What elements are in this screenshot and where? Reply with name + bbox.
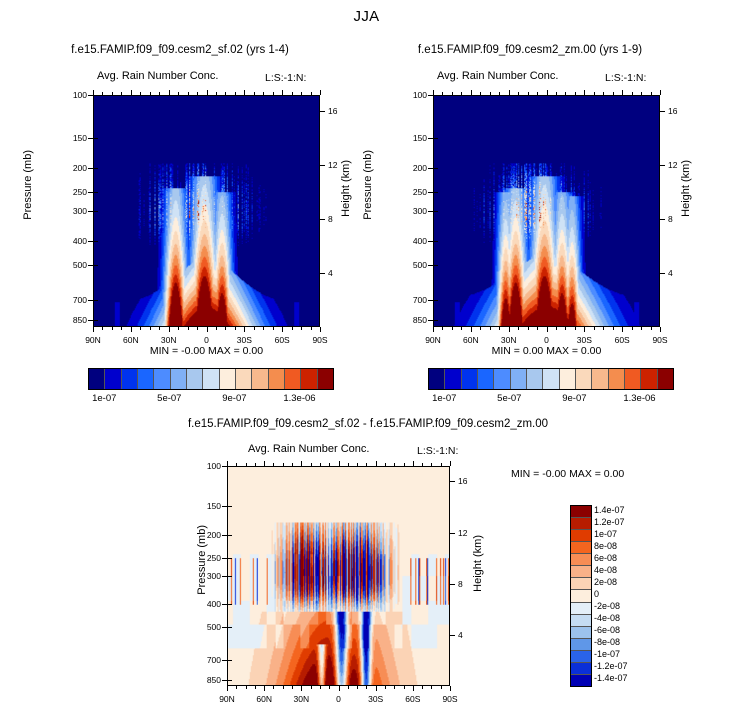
colorbar-segment bbox=[658, 369, 673, 389]
tick-lat-bottom bbox=[282, 327, 283, 332]
diff-colorbar-tick-label: 0 bbox=[594, 589, 656, 599]
tick-lat-minor-top bbox=[121, 92, 122, 95]
lat-tick-label: 60S bbox=[395, 694, 431, 704]
lat-tick-label: 60S bbox=[264, 335, 300, 345]
tick-lat-minor-bottom bbox=[385, 686, 386, 689]
colorbar-segment bbox=[641, 369, 657, 389]
tick-lat-minor-top bbox=[112, 92, 113, 95]
colorbar-segment bbox=[301, 369, 317, 389]
tick-lat-minor-bottom bbox=[178, 327, 179, 330]
colorbar-segment bbox=[527, 369, 543, 389]
tick-pressure bbox=[428, 192, 433, 193]
pressure-tick-label: 150 bbox=[399, 133, 427, 143]
tick-lat-top bbox=[93, 90, 94, 95]
bottom-panel-title: f.e15.FAMIP.f09_f09.cesm2_sf.02 - f.e15.… bbox=[133, 418, 603, 430]
tick-height bbox=[660, 165, 665, 166]
tick-lat-minor-bottom bbox=[311, 686, 312, 689]
tick-lat-bottom bbox=[413, 686, 414, 691]
colorbar-segment bbox=[236, 369, 252, 389]
lat-tick-label: 0 bbox=[321, 694, 357, 704]
left-panel-subtitle: Avg. Rain Number Conc. bbox=[97, 70, 218, 82]
colorbar-tick-label: 1e-07 bbox=[76, 393, 132, 404]
tick-lat-minor-bottom bbox=[102, 327, 103, 330]
tick-lat-minor-top bbox=[452, 92, 453, 95]
height-tick-label: 16 bbox=[668, 106, 690, 116]
tick-pressure-inner bbox=[434, 300, 438, 301]
tick-lat-top bbox=[169, 90, 170, 95]
tick-lat-minor-bottom bbox=[236, 686, 237, 689]
tick-lat-minor-top bbox=[594, 92, 595, 95]
pressure-tick-label: 400 bbox=[59, 236, 87, 246]
tick-lat-minor-bottom bbox=[197, 327, 198, 330]
tick-height bbox=[660, 273, 665, 274]
tick-lat-top bbox=[660, 90, 661, 95]
tick-pressure-inner bbox=[94, 265, 98, 266]
tick-pressure-inner bbox=[434, 192, 438, 193]
tick-pressure bbox=[222, 506, 227, 507]
tick-lat-minor-bottom bbox=[422, 686, 423, 689]
pressure-tick-label: 850 bbox=[399, 315, 427, 325]
tick-lat-minor-top bbox=[216, 92, 217, 95]
tick-lat-bottom bbox=[169, 327, 170, 332]
lat-tick-label: 60N bbox=[453, 335, 489, 345]
tick-lat-minor-bottom bbox=[292, 686, 293, 689]
tick-pressure-inner bbox=[228, 627, 232, 628]
tick-pressure-inner bbox=[228, 466, 232, 467]
tick-lat-minor-bottom bbox=[651, 327, 652, 330]
tick-pressure bbox=[222, 576, 227, 577]
pressure-tick-label: 200 bbox=[193, 530, 221, 540]
lat-tick-label: 30S bbox=[566, 335, 602, 345]
tick-pressure-inner bbox=[228, 506, 232, 507]
tick-pressure bbox=[88, 95, 93, 96]
tick-lat-minor-bottom bbox=[461, 327, 462, 330]
colorbar-segment bbox=[478, 369, 494, 389]
tick-lat-minor-top bbox=[575, 92, 576, 95]
tick-lat-minor-bottom bbox=[528, 327, 529, 330]
tick-lat-top bbox=[264, 461, 265, 466]
tick-lat-minor-top bbox=[246, 463, 247, 466]
colorbar-segment bbox=[625, 369, 641, 389]
tick-lat-minor-bottom bbox=[301, 327, 302, 330]
tick-lat-minor-top bbox=[235, 92, 236, 95]
colorbar-tick-label: 1e-07 bbox=[416, 393, 472, 404]
tick-lat-minor-top bbox=[348, 463, 349, 466]
tick-lat-minor-top bbox=[150, 92, 151, 95]
difference-colorbar[interactable] bbox=[570, 505, 592, 687]
height-tick-label: 8 bbox=[458, 579, 480, 589]
diff-colorbar-tick-label: -2e-08 bbox=[594, 601, 656, 611]
lat-tick-label: 0 bbox=[529, 335, 565, 345]
pressure-tick-label: 500 bbox=[399, 260, 427, 270]
colorbar-segment bbox=[609, 369, 625, 389]
tick-lat-minor-bottom bbox=[404, 686, 405, 689]
lat-tick-label: 90S bbox=[642, 335, 678, 345]
tick-lat-minor-top bbox=[613, 92, 614, 95]
tick-pressure bbox=[428, 300, 433, 301]
tick-lat-bottom bbox=[339, 686, 340, 691]
tick-lat-minor-bottom bbox=[283, 686, 284, 689]
tick-lat-minor-bottom bbox=[431, 686, 432, 689]
tick-pressure-inner bbox=[94, 300, 98, 301]
tick-lat-minor-top bbox=[651, 92, 652, 95]
lat-tick-label: 90N bbox=[209, 694, 245, 704]
pressure-tick-label: 100 bbox=[399, 90, 427, 100]
tick-lat-minor-top bbox=[357, 463, 358, 466]
tick-lat-bottom bbox=[264, 686, 265, 691]
lat-tick-label: 90S bbox=[432, 694, 468, 704]
tick-pressure bbox=[88, 211, 93, 212]
tick-pressure-inner bbox=[94, 320, 98, 321]
tick-lat-minor-top bbox=[292, 92, 293, 95]
tick-height bbox=[450, 533, 455, 534]
diff-colorbar-tick-label: 2e-08 bbox=[594, 577, 656, 587]
left-panel-plot-area[interactable] bbox=[93, 95, 320, 327]
tick-lat-minor-top bbox=[565, 92, 566, 95]
tick-lat-minor-top bbox=[273, 463, 274, 466]
colorbar-tick-label: 9e-07 bbox=[206, 393, 262, 404]
tick-lat-minor-bottom bbox=[480, 327, 481, 330]
tick-lat-top bbox=[433, 90, 434, 95]
tick-pressure-inner bbox=[434, 138, 438, 139]
tick-height bbox=[660, 111, 665, 112]
height-tick-label: 12 bbox=[328, 160, 350, 170]
tick-lat-minor-bottom bbox=[273, 686, 274, 689]
colorbar-tick-label: 5e-07 bbox=[141, 393, 197, 404]
tick-lat-bottom bbox=[244, 327, 245, 332]
tick-pressure bbox=[88, 300, 93, 301]
tick-pressure bbox=[88, 320, 93, 321]
pressure-tick-label: 150 bbox=[193, 501, 221, 511]
diff-colorbar-tick-label: 1.4e-07 bbox=[594, 505, 656, 515]
right-panel-colorbar[interactable] bbox=[428, 368, 674, 390]
tick-lat-minor-bottom bbox=[441, 686, 442, 689]
lat-tick-label: 30S bbox=[226, 335, 262, 345]
tick-pressure-inner bbox=[434, 241, 438, 242]
diff-colorbar-segment bbox=[571, 518, 591, 530]
tick-lat-top bbox=[227, 461, 228, 466]
tick-lat-minor-top bbox=[603, 92, 604, 95]
tick-pressure-inner bbox=[228, 660, 232, 661]
bottom-panel-minmax: MIN = -0.00 MAX = 0.00 bbox=[511, 468, 624, 480]
right-panel-subtitle: Avg. Rain Number Conc. bbox=[437, 70, 558, 82]
lat-tick-label: 30N bbox=[491, 335, 527, 345]
tick-lat-minor-top bbox=[283, 463, 284, 466]
tick-lat-top bbox=[131, 90, 132, 95]
pressure-tick-label: 150 bbox=[59, 133, 87, 143]
tick-pressure bbox=[88, 241, 93, 242]
height-tick-label: 4 bbox=[668, 268, 690, 278]
diff-colorbar-segment bbox=[571, 566, 591, 578]
lat-tick-label: 90S bbox=[302, 335, 338, 345]
lat-tick-label: 0 bbox=[189, 335, 225, 345]
left-panel-minmax: MIN = -0.00 MAX = 0.00 bbox=[93, 345, 320, 357]
lat-tick-label: 60N bbox=[113, 335, 149, 345]
tick-pressure bbox=[88, 138, 93, 139]
tick-lat-minor-bottom bbox=[442, 327, 443, 330]
bottom-panel-ls-label: L:S:-1:N: bbox=[417, 445, 458, 457]
diff-colorbar-tick-label: -1e-07 bbox=[594, 649, 656, 659]
tick-lat-minor-top bbox=[442, 92, 443, 95]
colorbar-segment bbox=[285, 369, 301, 389]
diff-colorbar-segment bbox=[571, 578, 591, 590]
diff-colorbar-tick-label: -1.2e-07 bbox=[594, 661, 656, 671]
pressure-tick-label: 300 bbox=[193, 571, 221, 581]
right-panel-y-axis-title: Pressure (mb) bbox=[362, 150, 374, 220]
tick-lat-minor-bottom bbox=[518, 327, 519, 330]
tick-lat-minor-top bbox=[499, 92, 500, 95]
tick-lat-top bbox=[282, 90, 283, 95]
tick-lat-minor-top bbox=[528, 92, 529, 95]
right-panel-plot-area[interactable] bbox=[433, 95, 660, 327]
diff-colorbar-tick-label: -8e-08 bbox=[594, 637, 656, 647]
tick-lat-minor-top bbox=[366, 463, 367, 466]
tick-lat-minor-top bbox=[490, 92, 491, 95]
tick-lat-minor-bottom bbox=[575, 327, 576, 330]
tick-pressure bbox=[428, 241, 433, 242]
tick-lat-minor-bottom bbox=[490, 327, 491, 330]
pressure-tick-label: 400 bbox=[193, 599, 221, 609]
tick-lat-minor-top bbox=[102, 92, 103, 95]
tick-pressure-inner bbox=[434, 168, 438, 169]
tick-lat-top bbox=[339, 461, 340, 466]
tick-lat-minor-top bbox=[556, 92, 557, 95]
tick-lat-bottom bbox=[471, 327, 472, 332]
pressure-tick-label: 850 bbox=[59, 315, 87, 325]
tick-pressure bbox=[222, 660, 227, 661]
tick-lat-bottom bbox=[547, 327, 548, 332]
tick-pressure bbox=[222, 535, 227, 536]
tick-pressure bbox=[222, 466, 227, 467]
tick-lat-bottom bbox=[131, 327, 132, 332]
colorbar-segment bbox=[138, 369, 154, 389]
tick-lat-minor-top bbox=[404, 463, 405, 466]
tick-lat-minor-bottom bbox=[292, 327, 293, 330]
lat-tick-label: 90N bbox=[75, 335, 111, 345]
colorbar-segment bbox=[560, 369, 576, 389]
bottom-panel-heatmap bbox=[228, 467, 449, 685]
right-panel-ls-label: L:S:-1:N: bbox=[605, 72, 646, 84]
tick-lat-minor-top bbox=[329, 463, 330, 466]
colorbar-segment bbox=[252, 369, 268, 389]
tick-lat-top bbox=[509, 90, 510, 95]
tick-lat-bottom bbox=[227, 686, 228, 691]
colorbar-segment bbox=[154, 369, 170, 389]
tick-pressure-inner bbox=[434, 211, 438, 212]
right-panel-heatmap bbox=[434, 96, 659, 326]
diff-colorbar-segment bbox=[571, 554, 591, 566]
height-tick-label: 8 bbox=[328, 214, 350, 224]
bottom-panel-subtitle: Avg. Rain Number Conc. bbox=[248, 443, 369, 455]
diff-colorbar-segment bbox=[571, 530, 591, 542]
tick-lat-minor-top bbox=[159, 92, 160, 95]
tick-lat-top bbox=[471, 90, 472, 95]
tick-lat-minor-top bbox=[385, 463, 386, 466]
diff-colorbar-tick-label: -4e-08 bbox=[594, 613, 656, 623]
lat-tick-label: 60S bbox=[604, 335, 640, 345]
tick-lat-minor-top bbox=[225, 92, 226, 95]
tick-lat-minor-top bbox=[422, 463, 423, 466]
tick-lat-minor-bottom bbox=[357, 686, 358, 689]
tick-lat-bottom bbox=[622, 327, 623, 332]
lat-tick-label: 30N bbox=[151, 335, 187, 345]
pressure-tick-label: 850 bbox=[193, 675, 221, 685]
tick-lat-minor-top bbox=[236, 463, 237, 466]
tick-lat-minor-bottom bbox=[329, 686, 330, 689]
left-panel-colorbar[interactable] bbox=[88, 368, 334, 390]
tick-lat-minor-top bbox=[394, 463, 395, 466]
tick-lat-bottom bbox=[301, 686, 302, 691]
colorbar-segment bbox=[187, 369, 203, 389]
tick-lat-minor-bottom bbox=[452, 327, 453, 330]
tick-pressure-inner bbox=[228, 576, 232, 577]
tick-pressure-inner bbox=[94, 95, 98, 96]
tick-lat-minor-top bbox=[301, 92, 302, 95]
tick-lat-minor-bottom bbox=[121, 327, 122, 330]
tick-lat-minor-bottom bbox=[150, 327, 151, 330]
tick-lat-minor-bottom bbox=[311, 327, 312, 330]
tick-lat-minor-top bbox=[178, 92, 179, 95]
tick-lat-minor-bottom bbox=[254, 327, 255, 330]
height-tick-label: 12 bbox=[668, 160, 690, 170]
tick-lat-minor-top bbox=[255, 463, 256, 466]
page-title: JJA bbox=[0, 8, 733, 25]
tick-lat-minor-bottom bbox=[594, 327, 595, 330]
tick-lat-minor-bottom bbox=[366, 686, 367, 689]
tick-lat-minor-bottom bbox=[603, 327, 604, 330]
bottom-panel-plot-area[interactable] bbox=[227, 466, 450, 686]
tick-lat-minor-bottom bbox=[348, 686, 349, 689]
colorbar-segment bbox=[445, 369, 461, 389]
tick-lat-minor-top bbox=[311, 463, 312, 466]
tick-lat-minor-bottom bbox=[140, 327, 141, 330]
colorbar-segment bbox=[576, 369, 592, 389]
tick-lat-minor-top bbox=[537, 92, 538, 95]
tick-lat-bottom bbox=[376, 686, 377, 691]
tick-lat-minor-bottom bbox=[188, 327, 189, 330]
tick-pressure bbox=[428, 211, 433, 212]
diff-colorbar-tick-label: 8e-08 bbox=[594, 541, 656, 551]
lat-tick-label: 30S bbox=[358, 694, 394, 704]
colorbar-segment bbox=[429, 369, 445, 389]
tick-lat-top bbox=[547, 90, 548, 95]
tick-lat-top bbox=[413, 461, 414, 466]
tick-lat-minor-bottom bbox=[273, 327, 274, 330]
pressure-tick-label: 700 bbox=[59, 295, 87, 305]
tick-height bbox=[320, 273, 325, 274]
pressure-tick-label: 400 bbox=[399, 236, 427, 246]
tick-lat-bottom bbox=[509, 327, 510, 332]
tick-pressure bbox=[88, 168, 93, 169]
tick-lat-top bbox=[244, 90, 245, 95]
height-tick-label: 4 bbox=[328, 268, 350, 278]
tick-height bbox=[320, 219, 325, 220]
tick-pressure-inner bbox=[434, 320, 438, 321]
tick-pressure bbox=[428, 320, 433, 321]
tick-lat-minor-top bbox=[311, 92, 312, 95]
tick-pressure-inner bbox=[94, 241, 98, 242]
tick-lat-bottom bbox=[450, 686, 451, 691]
diff-colorbar-segment bbox=[571, 627, 591, 639]
tick-pressure bbox=[428, 138, 433, 139]
diff-colorbar-segment bbox=[571, 603, 591, 615]
tick-pressure-inner bbox=[228, 604, 232, 605]
tick-lat-minor-bottom bbox=[263, 327, 264, 330]
tick-height bbox=[450, 584, 455, 585]
colorbar-segment bbox=[203, 369, 219, 389]
pressure-tick-label: 250 bbox=[59, 187, 87, 197]
diff-colorbar-segment bbox=[571, 675, 591, 686]
pressure-tick-label: 300 bbox=[59, 206, 87, 216]
right-panel-minmax: MIN = 0.00 MAX = 0.00 bbox=[433, 345, 660, 357]
tick-lat-top bbox=[450, 461, 451, 466]
tick-lat-minor-top bbox=[320, 463, 321, 466]
colorbar-segment bbox=[269, 369, 285, 389]
lat-tick-label: 90N bbox=[415, 335, 451, 345]
colorbar-tick-label: 1.3e-06 bbox=[611, 393, 667, 404]
colorbar-segment bbox=[105, 369, 121, 389]
tick-pressure-inner bbox=[228, 680, 232, 681]
tick-lat-top bbox=[320, 90, 321, 95]
tick-lat-minor-bottom bbox=[565, 327, 566, 330]
pressure-tick-label: 500 bbox=[193, 622, 221, 632]
diff-colorbar-segment bbox=[571, 590, 591, 602]
height-tick-label: 16 bbox=[328, 106, 350, 116]
colorbar-segment bbox=[543, 369, 559, 389]
tick-pressure bbox=[88, 265, 93, 266]
pressure-tick-label: 500 bbox=[59, 260, 87, 270]
tick-lat-minor-top bbox=[197, 92, 198, 95]
pressure-tick-label: 700 bbox=[193, 655, 221, 665]
tick-lat-top bbox=[584, 90, 585, 95]
tick-lat-minor-top bbox=[480, 92, 481, 95]
colorbar-tick-label: 1.3e-06 bbox=[271, 393, 327, 404]
tick-pressure-inner bbox=[94, 138, 98, 139]
diff-colorbar-tick-label: -6e-08 bbox=[594, 625, 656, 635]
colorbar-segment bbox=[171, 369, 187, 389]
tick-pressure-inner bbox=[228, 535, 232, 536]
tick-lat-bottom bbox=[433, 327, 434, 332]
colorbar-segment bbox=[511, 369, 527, 389]
tick-lat-bottom bbox=[93, 327, 94, 332]
tick-height bbox=[450, 635, 455, 636]
pressure-tick-label: 200 bbox=[399, 163, 427, 173]
diff-colorbar-tick-label: 6e-08 bbox=[594, 553, 656, 563]
diff-colorbar-segment bbox=[571, 651, 591, 663]
diff-colorbar-segment bbox=[571, 506, 591, 518]
tick-height bbox=[660, 219, 665, 220]
tick-lat-minor-bottom bbox=[246, 686, 247, 689]
tick-lat-minor-bottom bbox=[112, 327, 113, 330]
tick-lat-minor-top bbox=[273, 92, 274, 95]
left-panel-title: f.e15.FAMIP.f09_f09.cesm2_sf.02 (yrs 1-4… bbox=[40, 44, 320, 56]
right-panel-title: f.e15.FAMIP.f09_f09.cesm2_zm.00 (yrs 1-9… bbox=[385, 44, 675, 56]
tick-lat-minor-bottom bbox=[225, 327, 226, 330]
tick-lat-minor-top bbox=[632, 92, 633, 95]
tick-pressure-inner bbox=[434, 95, 438, 96]
lat-tick-label: 60N bbox=[246, 694, 282, 704]
tick-lat-minor-bottom bbox=[641, 327, 642, 330]
diff-colorbar-segment bbox=[571, 615, 591, 627]
left-panel-heatmap bbox=[94, 96, 319, 326]
pressure-tick-label: 700 bbox=[399, 295, 427, 305]
tick-pressure bbox=[428, 265, 433, 266]
tick-pressure-inner bbox=[228, 558, 232, 559]
tick-lat-minor-top bbox=[254, 92, 255, 95]
colorbar-segment bbox=[318, 369, 333, 389]
tick-pressure-inner bbox=[434, 265, 438, 266]
tick-lat-minor-bottom bbox=[537, 327, 538, 330]
